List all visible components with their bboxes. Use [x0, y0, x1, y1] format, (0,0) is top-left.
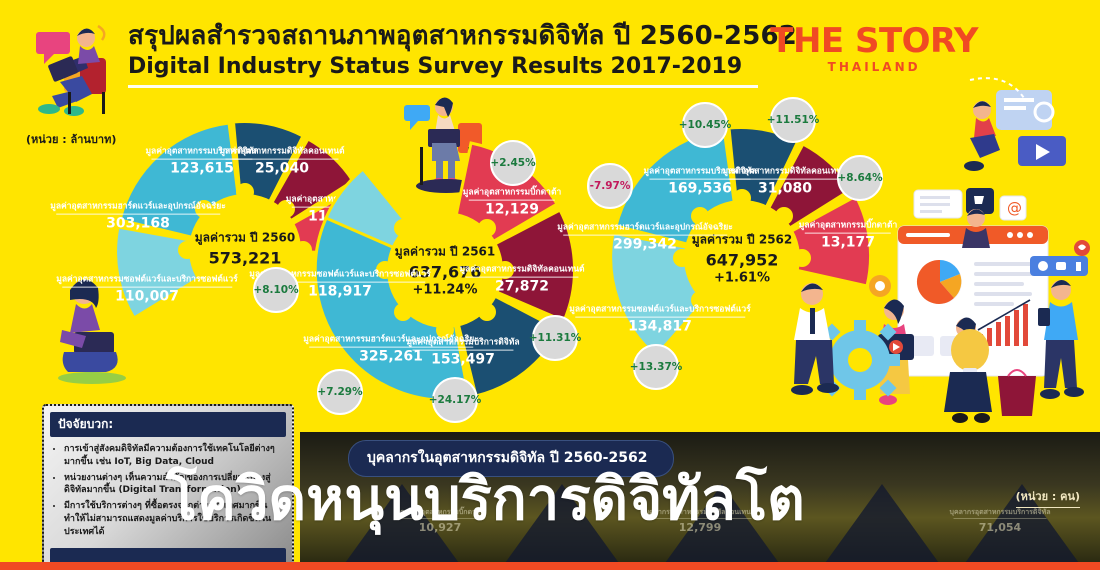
header-divider	[128, 85, 758, 88]
growth-badge-2562-software: +13.37%	[633, 344, 679, 390]
unit-label-persons: (หน่วย : คน)	[1016, 487, 1080, 508]
pie-center-2562: มูลค่ารวม ปี 2562 647,952 +1.61%	[692, 231, 793, 286]
pie-center-2560: มูลค่ารวม ปี 2560 573,221	[195, 229, 296, 268]
logo-main-text: THE STORY	[770, 24, 978, 58]
center-growth: +11.24%	[395, 283, 496, 298]
unit-label-million-baht: (หน่วย : ล้านบาท)	[26, 130, 116, 148]
center-growth: +1.61%	[692, 271, 793, 286]
growth-badge-2561-bigdata: +2.45%	[490, 140, 536, 186]
pie-center-2561: มูลค่ารวม ปี 2561 637,676 +11.24%	[395, 243, 496, 298]
center-total: 573,221	[195, 249, 296, 268]
personnel-stat-2: บุคลากรอุตสาหกรรมบริการดิจิทัล 71,054	[950, 508, 1051, 534]
growth-badge-2561-software: +8.10%	[253, 267, 299, 313]
personnel-rule	[954, 518, 1047, 519]
infographic-canvas: สรุปผลสำรวจสถานภาพอุตสาหกรรมดิจิทัล ปี 2…	[0, 0, 1100, 570]
growth-badge-2561-hardware: +7.29%	[317, 369, 363, 415]
growth-badge-2561-service: +24.17%	[432, 377, 478, 423]
logo-sub-text: THAILAND	[770, 60, 978, 74]
person-laptop-chair-illustration	[16, 12, 136, 122]
brand-logo[interactable]: THE STORY THAILAND	[770, 24, 978, 74]
overlay-headline: โควิดหนุนบริการดิจิทัลโต	[166, 470, 805, 528]
growth-badge-2562-content: +11.51%	[770, 97, 816, 143]
growth-badge-2562-service: +10.45%	[682, 102, 728, 148]
center-title: มูลค่ารวม ปี 2562	[692, 231, 793, 250]
growth-badge-2562-hardware: -7.97%	[587, 163, 633, 209]
bottom-accent-bar	[0, 562, 1100, 570]
person-tablet-illustration	[940, 70, 1090, 180]
growth-badge-2561-content: +11.31%	[532, 315, 578, 361]
positive-factors-heading: ปัจจัยบวก:	[50, 412, 286, 437]
center-total: 637,676	[395, 263, 496, 282]
center-title: มูลค่ารวม ปี 2560	[195, 229, 296, 248]
svg-text:@: @	[1007, 199, 1022, 217]
center-total: 647,952	[692, 251, 793, 270]
personnel-label: บุคลากรอุตสาหกรรมบริการดิจิทัล	[950, 508, 1051, 516]
center-title: มูลค่ารวม ปี 2561	[395, 243, 496, 262]
personnel-value: 71,054	[950, 521, 1051, 534]
growth-badge-2562-bigdata: +8.64%	[837, 155, 883, 201]
